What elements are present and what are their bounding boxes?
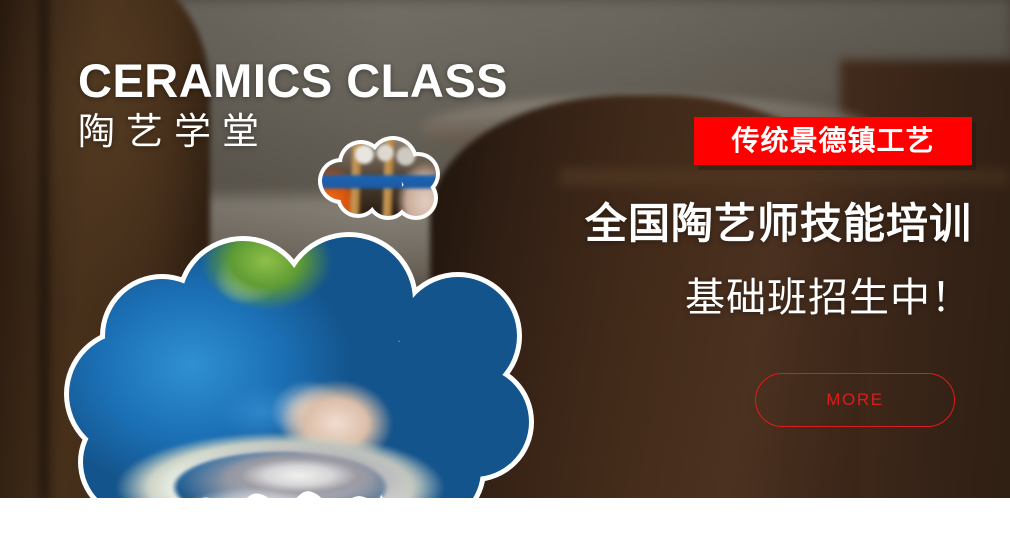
cloud-photo-lobe [155,321,445,507]
more-button[interactable]: MORE [755,373,955,427]
page-title-english: CERAMICS CLASS [78,57,508,106]
headline-secondary: 基础班招生中！ [685,276,972,321]
cloud-photo-lobe [356,162,402,208]
status-badge: 传统景德镇工艺 [694,117,972,165]
more-button-label: MORE [826,390,883,410]
status-badge-label: 传统景德镇工艺 [731,127,934,155]
page-title-chinese: 陶艺学堂 [78,110,508,154]
ceramics-class-banner: CERAMICS CLASS 陶艺学堂 [0,0,1010,538]
title-block: CERAMICS CLASS 陶艺学堂 [78,57,508,154]
child-pottery-cloud-photo [64,232,534,522]
headline-primary: 全国陶艺师技能培训 [585,200,972,247]
pottery-tools-cloud-photo [318,136,440,220]
bottom-white-band [0,498,1010,538]
